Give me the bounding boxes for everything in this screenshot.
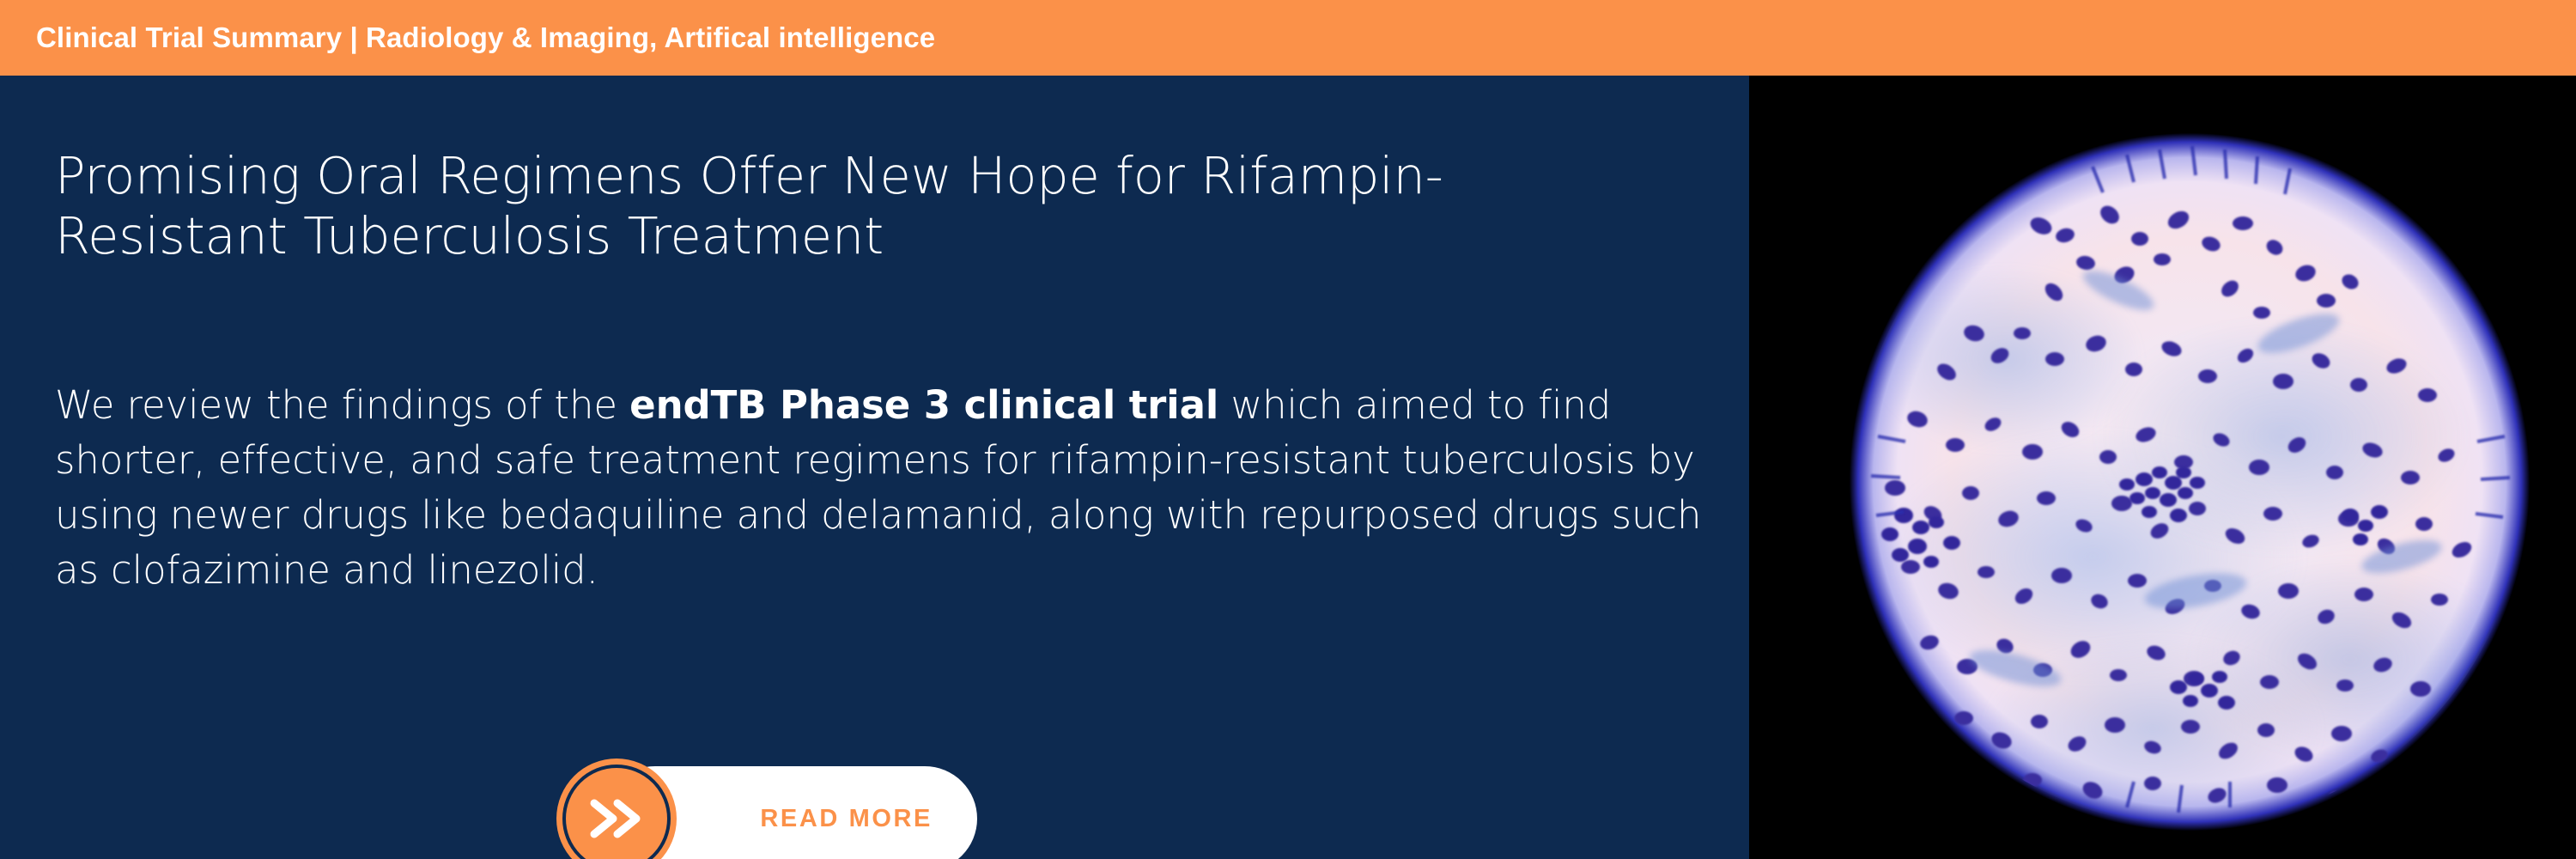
page-title: Promising Oral Regimens Offer New Hope f… xyxy=(55,146,1626,265)
topbar: Clinical Trial Summary | Radiology & Ima… xyxy=(0,0,2576,76)
summary-highlight: endTB Phase 3 clinical trial xyxy=(629,382,1218,428)
summary-before: We review the findings of the xyxy=(55,382,629,428)
micrograph-image xyxy=(1749,76,2576,859)
topbar-title: Clinical Trial Summary | Radiology & Ima… xyxy=(36,21,935,54)
summary-text: We review the findings of the endTB Phas… xyxy=(55,378,1712,598)
read-more-button[interactable]: READ MORE xyxy=(556,758,977,859)
double-chevron-right-icon xyxy=(587,796,646,841)
clinical-trial-summary-card: Clinical Trial Summary | Radiology & Ima… xyxy=(0,0,2576,859)
micrograph-panel xyxy=(1749,76,2576,859)
content-panel: Promising Oral Regimens Offer New Hope f… xyxy=(0,76,1749,859)
read-more-label: READ MORE xyxy=(760,805,933,833)
